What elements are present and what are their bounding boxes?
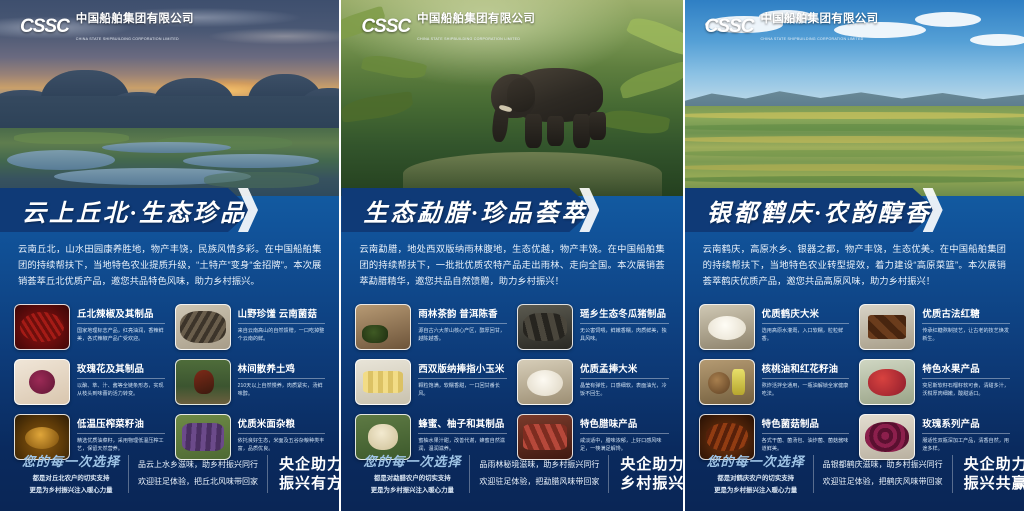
product-name: 雨林茶韵 普洱陈香 (418, 306, 507, 320)
cssc-logo: CSSC 中国船舶集团有限公司 CHINA STATE SHIPBUILDING… (361, 9, 535, 45)
product-card[interactable]: 瑶乡生态冬瓜猪制品无公害饲喂，鲜嫩香糯，肉质鲜美，独具风味。 (517, 304, 669, 350)
product-grid-mengla: 雨林茶韵 普洱陈香源自古六大茶山核心产区，醇厚回甘，越陈越香。 瑶乡生态冬瓜猪制… (341, 290, 682, 460)
cssc-wordmark: CSSC (361, 16, 410, 38)
product-name: 特色腊味产品 (580, 416, 669, 430)
product-thumbnail (859, 359, 915, 405)
product-card[interactable]: 优质古法红糖传承红糖熬制技艺，让古老的技艺焕发新生。 (859, 304, 1010, 350)
panel-qiubei: CSSC 中国船舶集团有限公司 CHINA STATE SHIPBUILDING… (0, 0, 339, 511)
cssc-logo: CSSC 中国船舶集团有限公司 CHINA STATE SHIPBUILDING… (705, 9, 879, 45)
cssc-logo: CSSC 中国船舶集团有限公司 CHINA STATE SHIPBUILDING… (20, 9, 194, 45)
product-name: 瑶乡生态冬瓜猪制品 (580, 306, 669, 320)
footer-subline-2: 更是为乡村振兴注入暖心力量 (714, 487, 797, 494)
product-desc: 210天以上自然慢养，肉质紧实，汤鲜味醇。 (238, 382, 326, 399)
hero-image-heqing: CSSC 中国船舶集团有限公司 CHINA STATE SHIPBUILDING… (685, 0, 1024, 196)
panel-heqing: CSSC 中国船舶集团有限公司 CHINA STATE SHIPBUILDING… (685, 0, 1024, 511)
product-name: 蜂蜜、柚子和其制品 (418, 416, 507, 430)
footer-script-slogan: 您的每一次选择 (355, 451, 469, 470)
footer-cta-line-2: 振兴共赢 (953, 474, 1024, 493)
product-thumbnail (14, 304, 70, 350)
title-banner-heqing: 银都鹤庆·农韵醇香 (685, 188, 1024, 232)
cssc-name-cn: 中国船舶集团有限公司 (760, 13, 878, 25)
product-thumbnail (175, 359, 231, 405)
panel-intro: 云南勐腊，地处西双版纳雨林腹地，生态优越，物产丰饶。在中国船舶集团的持续帮扶下，… (341, 232, 682, 290)
product-name: 西双版纳捧指小玉米 (418, 361, 507, 375)
footer-cta-line-2: 振兴有方 (268, 474, 339, 493)
panel-title: 银都鹤庆·农韵醇香 (685, 193, 932, 228)
panel-mengla: CSSC 中国船舶集团有限公司 CHINA STATE SHIPBUILDING… (341, 0, 682, 511)
product-desc: 选用高原水灌溉，入口软糯，粒粒鲜香。 (762, 327, 850, 344)
footer-cta-line-1: 央企助力 (609, 455, 682, 474)
cssc-wordmark: CSSC (705, 16, 754, 38)
footer-subline-1: 都是对丘北农户的切实支持 (33, 475, 110, 482)
footer-cta-line-1: 央企助力 (268, 455, 339, 474)
product-card[interactable]: 雨林茶韵 普洱陈香源自古六大茶山核心产区，醇厚回甘，越陈越香。 (355, 304, 507, 350)
product-name: 特色菌菇制品 (762, 416, 850, 430)
panel-intro: 云南鹤庆，高原水乡、银器之都，物产丰饶，生态优美。在中国船舶集团的持续帮扶下，当… (685, 232, 1024, 290)
footer-cta-line-1: 央企助力 (953, 455, 1024, 474)
product-card[interactable]: 优质鹤庆大米选用高原水灌溉，入口软糯，粒粒鲜香。 (699, 304, 850, 350)
product-desc: 传承红糖熬制技艺，让古老的技艺焕发新生。 (922, 327, 1010, 344)
footer-line-2: 欢迎驻足体验，把丘北风味带回家 (138, 474, 258, 491)
product-name: 优质米面杂粮 (238, 416, 326, 430)
product-name: 玫瑰花及其制品 (77, 361, 165, 375)
footer-script-slogan: 您的每一次选择 (14, 451, 128, 470)
product-desc: 熬炸活拌全通用，一瓶油解锁全家健康吃法。 (762, 382, 850, 399)
footer-subline-2: 更是为乡村振兴注入暖心力量 (29, 487, 112, 494)
product-desc: 颗粒饱满，软糯香甜，一口回甘番长风。 (418, 382, 507, 399)
footer-line-1: 品云上水乡滋味，助乡村振兴同行 (138, 457, 258, 474)
product-card[interactable]: 玫瑰花及其制品以酿、萃、汁、酱等全链条形态，实现从枝头到味蕾的活力转变。 (14, 359, 165, 405)
title-banner-mengla: 生态勐腊·珍品荟萃 (341, 188, 682, 232)
product-desc: 国家地理标志产品，红亮油润，香辣鲜美，各式辣椒产品广受欢迎。 (77, 327, 165, 344)
elephant-illustration (491, 62, 617, 146)
product-name: 林间散养土鸡 (238, 361, 326, 375)
footer-qiubei: 您的每一次选择 都是对丘北农户的切实支持 更是为乡村振兴注入暖心力量 品云上水乡… (0, 437, 339, 511)
cssc-name-cn: 中国船舶集团有限公司 (76, 13, 194, 25)
promo-poster: CSSC 中国船舶集团有限公司 CHINA STATE SHIPBUILDING… (0, 0, 1024, 511)
product-desc: 晶莹有弹性，口感细软，表面油光，冷饭不回生。 (580, 382, 669, 399)
footer-line-2: 欢迎驻足体验，把勐腊风味带回家 (479, 474, 599, 491)
product-desc: 突尼斯软籽石榴籽软可食，清甜多汁，沃柑厚肉细嫩，酸甜适口。 (922, 382, 1010, 399)
product-name: 核桃油和红花籽油 (762, 361, 850, 375)
product-name: 优质孟捧大米 (580, 361, 669, 375)
panel-intro: 云南丘北，山水田园康养胜地，物产丰饶，民族风情多彩。在中国船舶集团的持续帮扶下，… (0, 232, 339, 290)
product-name: 优质鹤庆大米 (762, 306, 850, 320)
product-thumbnail (859, 304, 915, 350)
product-thumbnail (355, 359, 411, 405)
product-card[interactable]: 山野珍馐 云南菌菇来自云南高山的自然馈赠，一口吃掉整个云南的鲜。 (175, 304, 326, 350)
cssc-name-en: CHINA STATE SHIPBUILDING CORPORATION LIM… (76, 37, 179, 41)
product-card[interactable]: 特色水果产品突尼斯软籽石榴籽软可食，清甜多汁，沃柑厚肉细嫩，酸甜适口。 (859, 359, 1010, 405)
footer-mengla: 您的每一次选择 都是对勐腊农户的切实支持 更是为乡村振兴注入暖心力量 品雨林秘境… (341, 437, 682, 511)
product-thumbnail (517, 304, 573, 350)
product-name: 特色水果产品 (922, 361, 1010, 375)
product-grid-qiubei: 丘北辣椒及其制品国家地理标志产品，红亮油润，香辣鲜美，各式辣椒产品广受欢迎。 山… (0, 290, 339, 460)
product-desc: 无公害饲喂，鲜嫩香糯，肉质鲜美，独具风味。 (580, 327, 669, 344)
footer-subline-2: 更是为乡村振兴注入暖心力量 (371, 487, 454, 494)
product-desc: 以酿、萃、汁、酱等全链条形态，实现从枝头到味蕾的活力转变。 (77, 382, 165, 399)
panel-title: 云上丘北·生态珍品 (0, 193, 247, 228)
panel-title: 生态勐腊·珍品荟萃 (341, 193, 588, 228)
product-thumbnail (517, 359, 573, 405)
product-card[interactable]: 丘北辣椒及其制品国家地理标志产品，红亮油润，香辣鲜美，各式辣椒产品广受欢迎。 (14, 304, 165, 350)
product-card[interactable]: 西双版纳捧指小玉米颗粒饱满，软糯香甜，一口回甘番长风。 (355, 359, 507, 405)
title-banner-qiubei: 云上丘北·生态珍品 (0, 188, 339, 232)
product-name: 优质古法红糖 (922, 306, 1010, 320)
product-card[interactable]: 优质孟捧大米晶莹有弹性，口感细软，表面油光，冷饭不回生。 (517, 359, 669, 405)
footer-subline-1: 都是对勐腊农户的切实支持 (374, 475, 451, 482)
product-name: 丘北辣椒及其制品 (77, 306, 165, 320)
footer-subline-1: 都是对鹤庆农户的切实支持 (717, 475, 794, 482)
product-grid-heqing: 优质鹤庆大米选用高原水灌溉，入口软糯，粒粒鲜香。 优质古法红糖传承红糖熬制技艺，… (685, 290, 1024, 460)
footer-script-slogan: 您的每一次选择 (699, 451, 813, 470)
product-thumbnail (699, 304, 755, 350)
cssc-name-en: CHINA STATE SHIPBUILDING CORPORATION LIM… (417, 37, 520, 41)
product-name: 山野珍馐 云南菌菇 (238, 306, 326, 320)
cssc-name-en: CHINA STATE SHIPBUILDING CORPORATION LIM… (760, 37, 863, 41)
product-name: 低温压榨菜籽油 (77, 416, 165, 430)
footer-line-1: 品银都鹤庆滋味，助乡村振兴同行 (823, 457, 943, 474)
product-thumbnail (14, 359, 70, 405)
product-desc: 源自古六大茶山核心产区，醇厚回甘，越陈越香。 (418, 327, 507, 344)
product-thumbnail (175, 304, 231, 350)
footer-cta-line-2: 乡村振兴 (609, 474, 682, 493)
product-name: 玫瑰系列产品 (922, 416, 1010, 430)
hero-image-mengla: CSSC 中国船舶集团有限公司 CHINA STATE SHIPBUILDING… (341, 0, 682, 196)
product-thumbnail (699, 359, 755, 405)
product-card[interactable]: 林间散养土鸡210天以上自然慢养，肉质紧实，汤鲜味醇。 (175, 359, 326, 405)
footer-line-2: 欢迎驻足体验，把鹤庆风味带回家 (823, 474, 943, 491)
cssc-name-cn: 中国船舶集团有限公司 (417, 13, 535, 25)
cssc-wordmark: CSSC (20, 16, 69, 38)
footer-heqing: 您的每一次选择 都是对鹤庆农户的切实支持 更是为乡村振兴注入暖心力量 品银都鹤庆… (685, 437, 1024, 511)
product-desc: 来自云南高山的自然馈赠，一口吃掉整个云南的鲜。 (238, 327, 326, 344)
hero-image-qiubei: CSSC 中国船舶集团有限公司 CHINA STATE SHIPBUILDING… (0, 0, 339, 196)
footer-line-1: 品雨林秘境滋味，助乡村振兴同行 (479, 457, 599, 474)
product-thumbnail (355, 304, 411, 350)
product-card[interactable]: 核桃油和红花籽油熬炸活拌全通用，一瓶油解锁全家健康吃法。 (699, 359, 850, 405)
